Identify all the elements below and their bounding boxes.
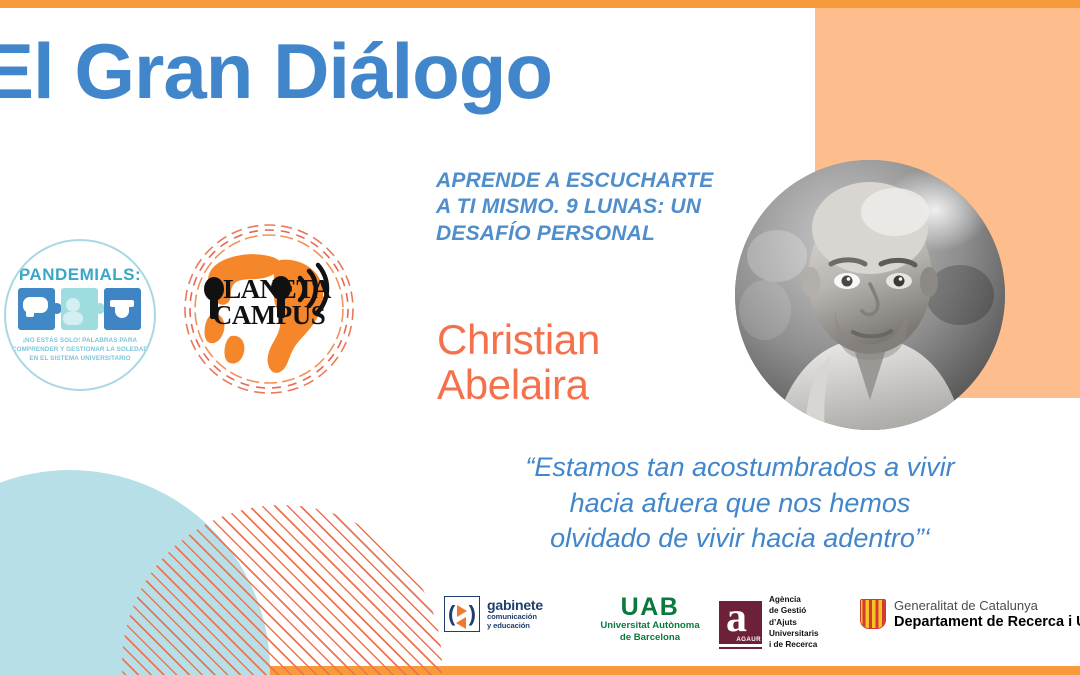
speaker-first-name: Christian [437, 318, 737, 363]
gabinete-name: gabinete [487, 598, 543, 614]
portrait-image [735, 160, 1005, 430]
planeta-campus-logo: PLANETA CAMPUS [176, 216, 362, 402]
footer-logo-row: ( ) gabinete comunicación y educación UA… [0, 592, 1080, 644]
agaur-wordmark: Agència de Gestió d’Ajuts Universitaris … [769, 594, 819, 651]
session-heading: APRENDE A ESCUCHARTE A TI MISMO. 9 LUNAS… [436, 168, 726, 247]
planeta-campus-wordmark: PLANETA CAMPUS [176, 276, 362, 329]
speaker-last-name: Abelaira [437, 363, 737, 408]
uab-acronym: UAB [570, 594, 730, 620]
pandemials-logo: PANDEMIALS: ¡NO ESTÁS SOLO! PALABRAS PAR… [4, 239, 156, 391]
poster-canvas: El Gran Diálogo PANDEMIALS: ¡NO ESTÁS SO… [0, 0, 1080, 675]
uab-logo: UAB Universitat Autònoma de Barcelona [570, 594, 730, 644]
generalitat-line1: Generalitat de Catalunya [894, 598, 1080, 614]
speaker-name: Christian Abelaira [437, 318, 737, 407]
page-title: El Gran Diálogo [0, 32, 552, 110]
speaker-portrait-photo [735, 160, 1005, 430]
gabinete-logo: ( ) gabinete comunicación y educación [444, 596, 543, 632]
pandemials-logo-title: PANDEMIALS: [6, 265, 154, 285]
pandemials-puzzle-icon [18, 288, 142, 330]
catalan-flag-shield-icon [860, 599, 886, 629]
generalitat-logo: Generalitat de Catalunya Departament de … [860, 598, 1080, 631]
speaker-quote: “Estamos tan acostumbrados a vivir hacia… [440, 450, 1040, 557]
generalitat-line2: Departament de Recerca i Universit [894, 614, 1080, 631]
top-accent-bar [0, 0, 1080, 8]
pandemials-logo-tagline: ¡NO ESTÁS SOLO! PALABRAS PARA COMPRENDER… [9, 336, 151, 363]
agaur-logo: a AGAUR Agència de Gestió d’Ajuts Univer… [719, 594, 819, 651]
agaur-mark-label: AGAUR [736, 636, 761, 643]
uab-sub1: Universitat Autònoma [570, 620, 730, 632]
gabinete-sub2: y educación [487, 622, 543, 631]
uab-sub2: de Barcelona [570, 632, 730, 644]
agaur-mark-icon: a AGAUR [719, 601, 762, 644]
gabinete-bracket-icon: ( ) [444, 596, 480, 632]
